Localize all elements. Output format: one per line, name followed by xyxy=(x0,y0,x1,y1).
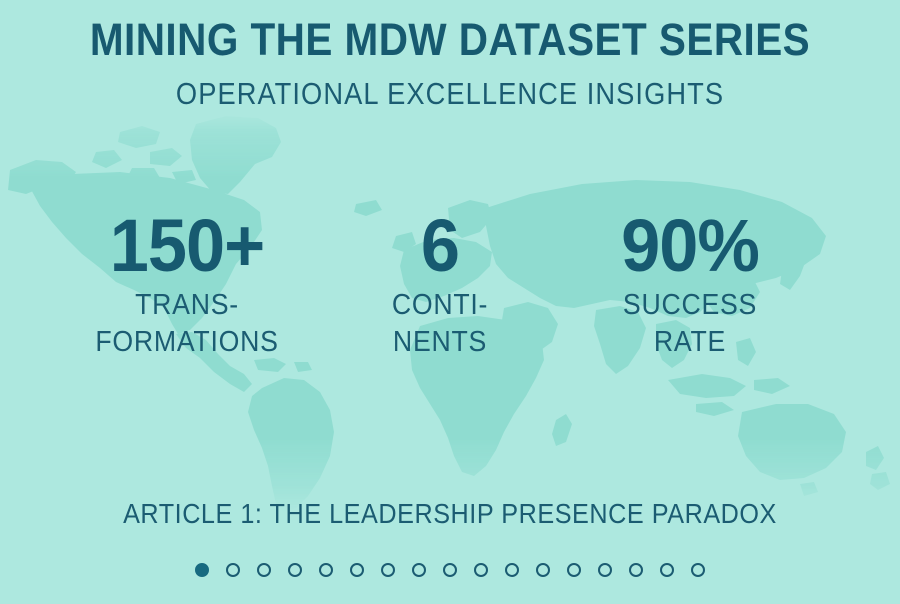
pagination-dot-4[interactable] xyxy=(288,563,302,577)
pagination-dot-8[interactable] xyxy=(412,563,426,577)
stat-label-continents-line2: NENTS xyxy=(326,325,554,360)
pagination-dot-11[interactable] xyxy=(505,563,519,577)
stat-value-transformations: 150+ xyxy=(64,206,309,286)
stat-success-rate: 90% SUCCESS RATE xyxy=(564,206,816,360)
stat-label-success-rate-line2: RATE xyxy=(574,325,806,360)
page-subtitle: OPERATIONAL EXCELLENCE INSIGHTS xyxy=(54,66,846,112)
stat-value-continents: 6 xyxy=(322,206,558,286)
pagination-dot-7[interactable] xyxy=(381,563,395,577)
pagination-dots[interactable] xyxy=(0,563,900,577)
stat-value-success-rate: 90% xyxy=(570,206,809,286)
stat-label-success-rate-line1: SUCCESS xyxy=(574,288,806,323)
page-title: MINING THE MDW DATASET SERIES xyxy=(45,0,855,66)
pagination-dot-16[interactable] xyxy=(660,563,674,577)
stat-continents: 6 CONTI- NENTS xyxy=(316,206,564,360)
pagination-dot-15[interactable] xyxy=(629,563,643,577)
stat-label-continents-line1: CONTI- xyxy=(326,288,554,323)
pagination-dot-9[interactable] xyxy=(443,563,457,577)
pagination-dot-10[interactable] xyxy=(474,563,488,577)
stats-row: 150+ TRANS- FORMATIONS 6 CONTI- NENTS 90… xyxy=(0,206,900,360)
pagination-dot-12[interactable] xyxy=(536,563,550,577)
pagination-dot-1[interactable] xyxy=(195,563,209,577)
pagination-dot-3[interactable] xyxy=(257,563,271,577)
pagination-dot-17[interactable] xyxy=(691,563,705,577)
stat-label-transformations-line2: FORMATIONS xyxy=(68,325,305,360)
infographic-slide: MINING THE MDW DATASET SERIES OPERATIONA… xyxy=(0,0,900,604)
stat-label-transformations-line1: TRANS- xyxy=(68,288,305,323)
pagination-dot-5[interactable] xyxy=(319,563,333,577)
header-block: MINING THE MDW DATASET SERIES OPERATIONA… xyxy=(0,0,900,112)
pagination-dot-13[interactable] xyxy=(567,563,581,577)
article-caption: ARTICLE 1: THE LEADERSHIP PRESENCE PARAD… xyxy=(45,497,855,531)
pagination-dot-6[interactable] xyxy=(350,563,364,577)
pagination-dot-2[interactable] xyxy=(226,563,240,577)
stat-transformations: 150+ TRANS- FORMATIONS xyxy=(58,206,316,360)
pagination-dot-14[interactable] xyxy=(598,563,612,577)
